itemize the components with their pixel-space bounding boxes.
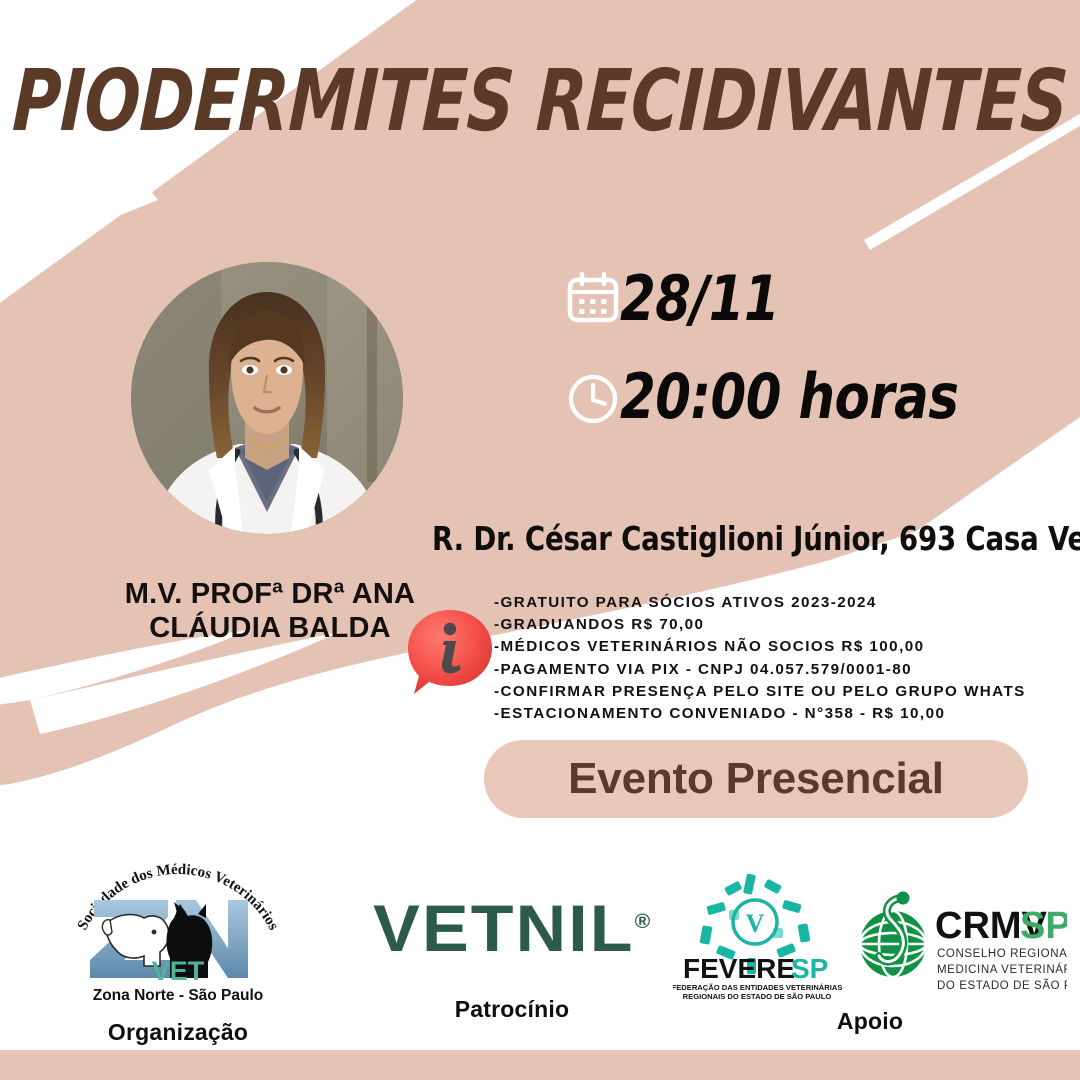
page-title: PIODERMITES RECIDIVANTES <box>0 46 1080 156</box>
vetnil-registered-mark: ® <box>635 911 651 933</box>
feveresp-mark-letter: V <box>746 909 765 938</box>
event-address: R. Dr. César Castiglioni Júnior, 693 Cas… <box>432 522 990 557</box>
organizacao-block: Sociedade dos Médicos Veterinários VET Z… <box>38 860 318 1046</box>
feveresp-word-teal: SP <box>791 953 828 984</box>
speaker-photo <box>131 262 403 534</box>
vetnil-logo: VETNIL® <box>352 888 672 968</box>
detail-line: -ESTACIONAMENTO CONVENIADO - N°358 - R$ … <box>494 703 1074 725</box>
crmv-word-green: SP <box>1020 905 1067 947</box>
crmv-tagline-line3: DO ESTADO DE SÃO PAULO <box>937 979 1067 992</box>
event-date-row: 28/11 <box>566 268 793 330</box>
feveresp-logo: V FEVERE SP FEDERAÇÃO DAS ENTIDADES VETE… <box>673 870 843 1002</box>
feveresp-tagline-line2: REGIONAIS DO ESTADO DE SÃO PAULO <box>683 992 832 1001</box>
znvet-sub-text: VET <box>152 956 205 986</box>
event-time-text: 20:00 horas <box>620 366 958 428</box>
event-date-text: 28/11 <box>620 268 779 330</box>
footer-logos: Sociedade dos Médicos Veterinários VET Z… <box>0 860 1080 1050</box>
znvet-tagline: Zona Norte - São Paulo <box>93 987 264 1004</box>
crmv-tagline-line2: MEDICINA VETERINÁRIA <box>937 963 1067 976</box>
event-time-row: 20:00 horas <box>566 366 988 428</box>
info-bubble-icon <box>404 604 496 698</box>
calendar-icon <box>566 272 620 326</box>
feveresp-tagline-line1: FEDERAÇÃO DAS ENTIDADES VETERINÁRIAS <box>673 983 842 992</box>
title-text: PIODERMITES RECIDIVANTES <box>11 59 1070 144</box>
znvet-logo: Sociedade dos Médicos Veterinários VET Z… <box>38 860 318 1010</box>
detail-line: -MÉDICOS VETERINÁRIOS NÃO SOCIOS R$ 100,… <box>494 636 1074 658</box>
status-badge: Evento Presencial <box>484 740 1028 818</box>
organizacao-caption: Organização <box>38 1019 318 1046</box>
detail-line: -GRATUITO PARA SÓCIOS ATIVOS 2023-2024 <box>494 592 1074 614</box>
patrocinio-block: VETNIL® Patrocínio <box>352 888 672 1023</box>
detail-line: -GRADUANDOS R$ 70,00 <box>494 614 1074 636</box>
patrocinio-caption: Patrocínio <box>352 996 672 1023</box>
apoio-block: V FEVERE SP FEDERAÇÃO DAS ENTIDADES VETE… <box>672 870 1068 1035</box>
vetnil-wordmark: VETNIL <box>373 891 634 965</box>
event-flyer: PIODERMITES RECIDIVANTES <box>0 0 1080 1080</box>
detail-line: -CONFIRMAR PRESENÇA PELO SITE OU PELO GR… <box>494 681 1074 703</box>
speaker-portrait-illustration <box>131 262 403 534</box>
event-details-list: -GRATUITO PARA SÓCIOS ATIVOS 2023-2024 -… <box>494 592 1074 725</box>
crmv-tagline-line1: CONSELHO REGIONAL DE <box>937 948 1067 960</box>
feveresp-word-black: FEVERE <box>683 953 795 984</box>
apoio-caption: Apoio <box>672 1008 1068 1035</box>
crmv-sp-logo: CRMV SP CONSELHO REGIONAL DE MEDICINA VE… <box>857 882 1067 1002</box>
detail-line: -PAGAMENTO VIA PIX - CNPJ 04.057.579/000… <box>494 659 1074 681</box>
clock-icon <box>566 372 620 426</box>
bottom-accent-strip <box>0 1050 1080 1080</box>
status-badge-label: Evento Presencial <box>568 754 944 804</box>
